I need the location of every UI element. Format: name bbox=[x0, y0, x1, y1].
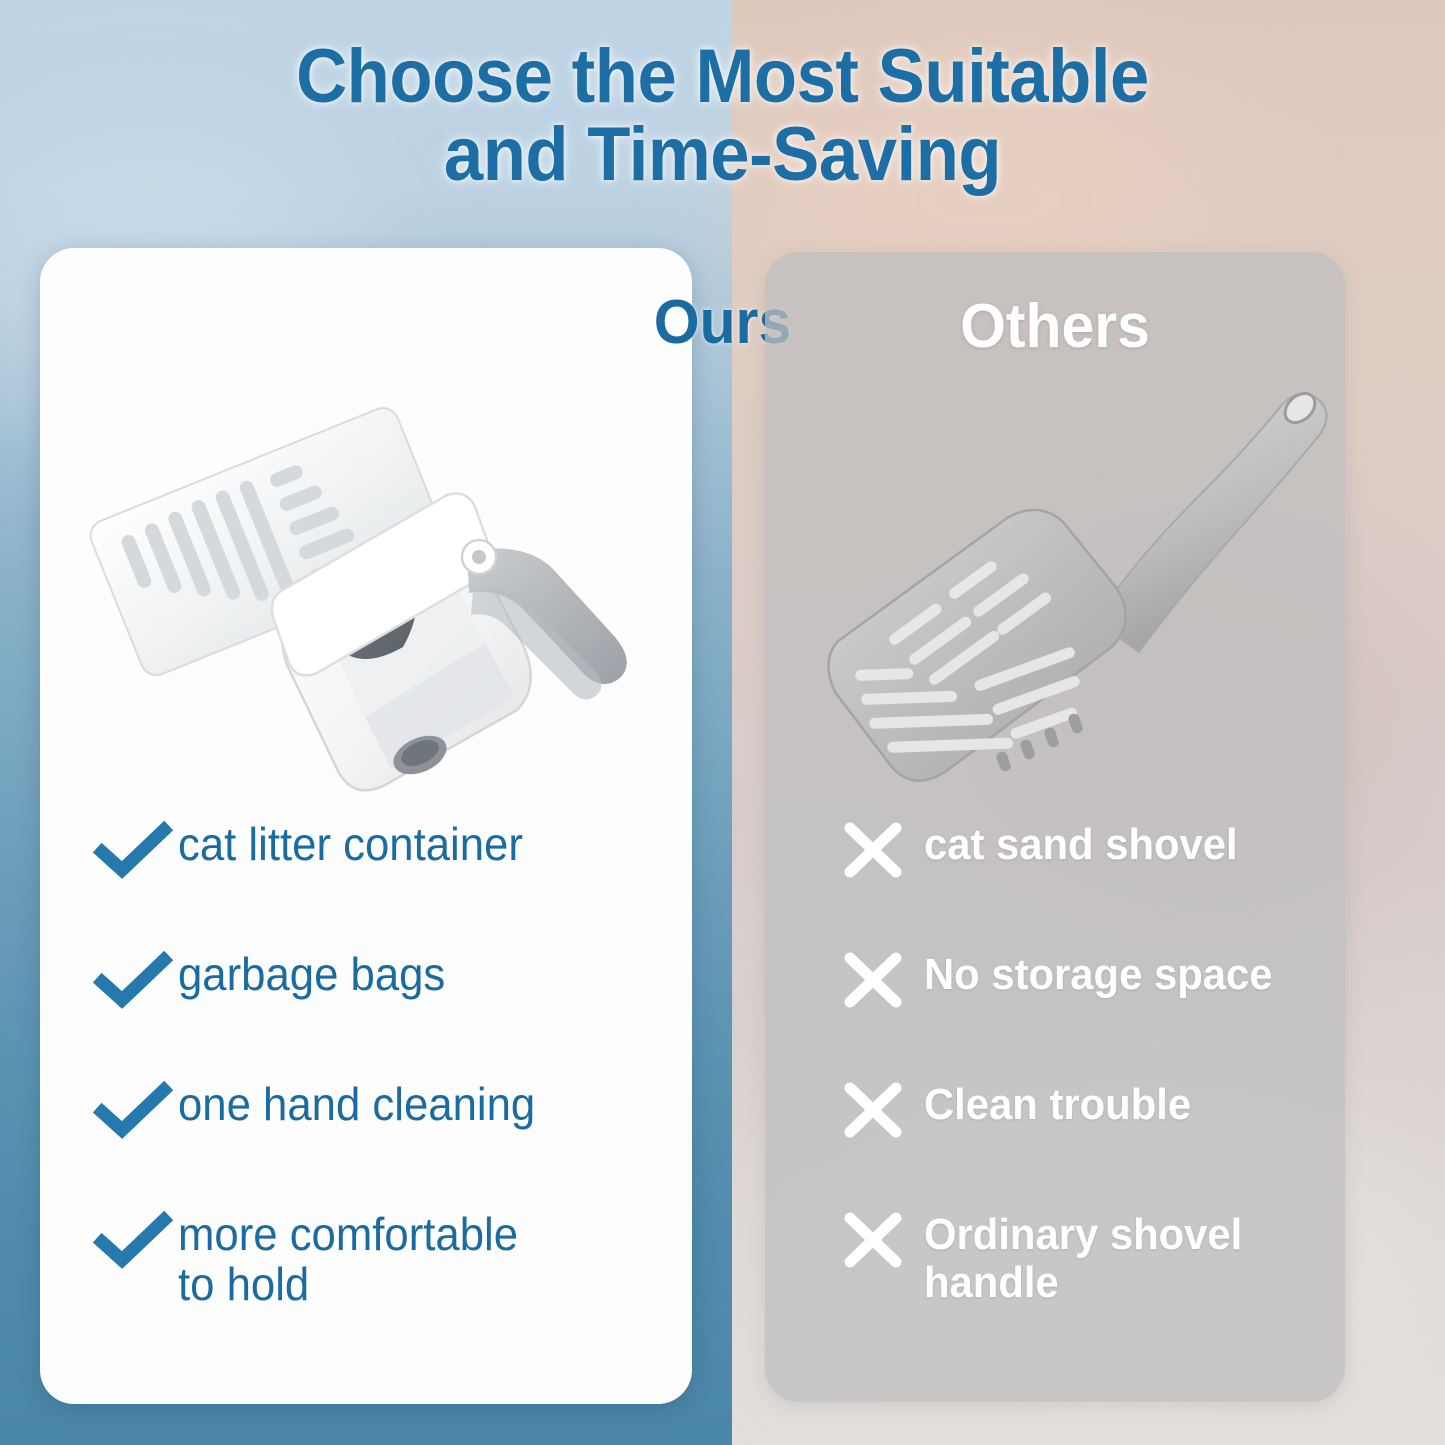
comparison-infographic: Choose the Most Suitable and Time-Saving… bbox=[0, 0, 1445, 1445]
cross-icon bbox=[838, 818, 924, 882]
feature-label: garbage bags bbox=[178, 948, 445, 1000]
cross-icon bbox=[838, 1208, 924, 1272]
product-image-ours bbox=[55, 355, 675, 815]
check-icon bbox=[92, 948, 178, 1012]
feature-label: Ordinary shovel handle bbox=[924, 1208, 1242, 1306]
feature-label: one hand cleaning bbox=[178, 1078, 535, 1130]
cat-litter-scoop-with-container-icon bbox=[55, 355, 675, 815]
panel-others-heading: Others bbox=[780, 296, 1331, 358]
title-line-1: Choose the Most Suitable bbox=[51, 38, 1395, 116]
title-line-2: and Time-Saving bbox=[51, 116, 1395, 194]
feature-list-ours: cat litter container garbage bags one ha… bbox=[92, 818, 672, 1338]
list-item: garbage bags bbox=[92, 948, 672, 1078]
list-item: more comfortable to hold bbox=[92, 1208, 672, 1338]
ordinary-gray-litter-shovel-icon bbox=[795, 370, 1355, 800]
product-image-others bbox=[795, 370, 1355, 800]
cross-icon bbox=[838, 948, 924, 1012]
feature-label: Clean trouble bbox=[924, 1078, 1191, 1129]
list-item: Ordinary shovel handle bbox=[838, 1208, 1338, 1338]
list-item: Clean trouble bbox=[838, 1078, 1338, 1208]
check-icon bbox=[92, 1078, 178, 1142]
feature-label: No storage space bbox=[924, 948, 1272, 999]
list-item: one hand cleaning bbox=[92, 1078, 672, 1208]
page-title: Choose the Most Suitable and Time-Saving bbox=[51, 38, 1395, 195]
feature-label: more comfortable to hold bbox=[178, 1208, 518, 1309]
check-icon bbox=[92, 1208, 178, 1272]
check-icon bbox=[92, 818, 178, 882]
feature-label: cat sand shovel bbox=[924, 818, 1238, 869]
feature-list-others: cat sand shovel No storage space Clean t… bbox=[838, 818, 1338, 1338]
list-item: cat sand shovel bbox=[838, 818, 1338, 948]
list-item: No storage space bbox=[838, 948, 1338, 1078]
feature-label: cat litter container bbox=[178, 818, 523, 870]
cross-icon bbox=[838, 1078, 924, 1142]
list-item: cat litter container bbox=[92, 818, 672, 948]
